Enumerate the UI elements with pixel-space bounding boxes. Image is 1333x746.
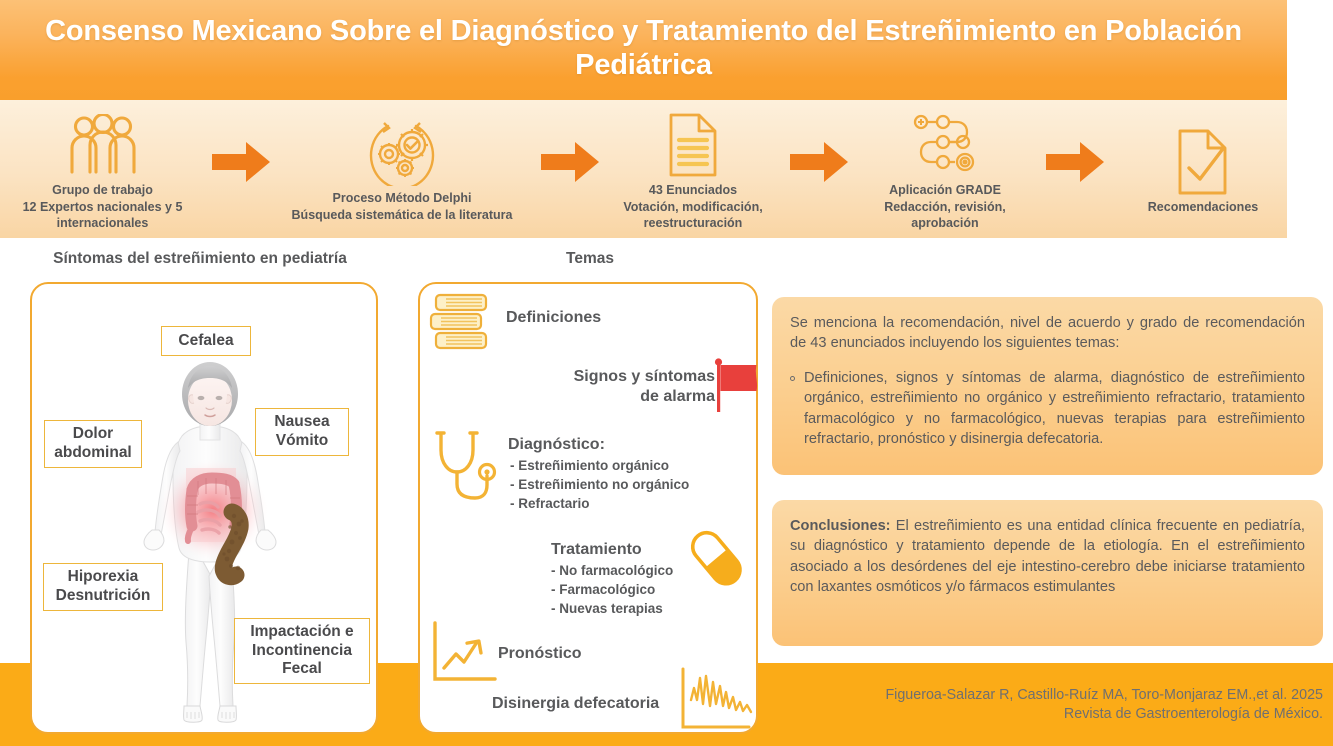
arrow-right-icon-2: [527, 142, 613, 196]
symptom-label-cefalea: Cefalea: [161, 326, 251, 356]
recommendations-intro: Se menciona la recomendación, nivel de a…: [790, 313, 1305, 354]
process-step-3-label: 43 Enunciados Votación, modificación, re…: [623, 182, 762, 232]
tema-tratamiento-sub-2: - Farmacológico: [551, 580, 655, 599]
gears-check-cycle-icon: [364, 120, 440, 186]
recommendations-bullet-text: Definiciones, signos y síntomas de alarm…: [804, 368, 1305, 450]
temas-section-title: Temas: [420, 250, 760, 268]
trend-up-chart-icon: [430, 620, 502, 689]
process-step-4-label: Aplicación GRADE Redacción, revisión, ap…: [884, 182, 1006, 232]
arrow-right-icon-1: [205, 142, 277, 196]
document-lines-icon: [667, 112, 719, 178]
tema-pronostico-label: Pronóstico: [498, 644, 582, 665]
books-stack-icon: [428, 292, 494, 359]
process-step-1: Grupo de trabajo 12 Expertos nacionales …: [0, 106, 205, 232]
group-people-icon: [66, 112, 140, 178]
conclusions-label: Conclusiones:: [790, 518, 891, 534]
recommendations-card: Se menciona la recomendación, nivel de a…: [772, 297, 1323, 475]
symptom-label-dolor-abdominal: Dolor abdominal: [44, 420, 142, 468]
symptoms-section-title: Síntomas del estreñimiento en pediatría: [22, 250, 378, 268]
network-nodes-target-icon: [909, 112, 981, 178]
tema-tratamiento-label: Tratamiento: [551, 540, 642, 561]
tema-disinergia-label: Disinergia defecatoria: [492, 694, 659, 715]
process-step-5: Recomendaciones: [1125, 123, 1281, 216]
stethoscope-icon: [425, 428, 503, 515]
tema-diagnostico-sub-1: - Estreñimiento orgánico: [510, 456, 669, 475]
process-step-2-label: Proceso Método Delphi Búsqueda sistemáti…: [292, 190, 513, 223]
recommendations-bullet-row: Definiciones, signos y síntomas de alarm…: [790, 368, 1305, 450]
infographic-root: Consenso Mexicano Sobre el Diagnóstico y…: [0, 0, 1333, 746]
pill-capsule-icon: [686, 526, 748, 597]
manometry-wave-icon: [678, 666, 754, 737]
arrow-right-icon-3: [773, 142, 865, 196]
tema-alarma-label: Signos y síntomas de alarma: [555, 367, 715, 407]
process-step-2: Proceso Método Delphi Búsqueda sistemáti…: [277, 114, 527, 223]
document-check-icon: [1176, 129, 1230, 195]
arrow-right-icon-4: [1025, 142, 1125, 196]
tema-tratamiento-sub-3: - Nuevas terapias: [551, 599, 663, 618]
tema-diagnostico-sub-2: - Estreñimiento no orgánico: [510, 475, 689, 494]
red-flag-icon: [714, 358, 760, 417]
process-step-4: Aplicación GRADE Redacción, revisión, ap…: [865, 106, 1025, 232]
bullet-circle-icon: [790, 376, 795, 381]
process-flow-band: Grupo de trabajo 12 Expertos nacionales …: [0, 100, 1287, 238]
process-step-5-label: Recomendaciones: [1148, 199, 1258, 216]
header-banner: Consenso Mexicano Sobre el Diagnóstico y…: [0, 0, 1287, 100]
citation: Figueroa-Salazar R, Castillo-Ruíz MA, To…: [772, 686, 1323, 724]
conclusions-paragraph: Conclusiones: El estreñimiento es una en…: [790, 516, 1305, 598]
page-title: Consenso Mexicano Sobre el Diagnóstico y…: [24, 14, 1263, 82]
process-step-1-label: Grupo de trabajo 12 Expertos nacionales …: [23, 182, 183, 232]
tema-tratamiento-sub-1: - No farmacológico: [551, 561, 673, 580]
tema-definiciones-label: Definiciones: [506, 308, 601, 329]
conclusions-card: Conclusiones: El estreñimiento es una en…: [772, 500, 1323, 646]
process-step-3: 43 Enunciados Votación, modificación, re…: [613, 106, 773, 232]
symptom-label-hiporexia: Hiporexia Desnutrición: [43, 563, 163, 611]
tema-diagnostico-label: Diagnóstico:: [508, 435, 605, 456]
tema-diagnostico-sub-3: - Refractario: [510, 494, 590, 513]
symptom-label-impactacion: Impactación e Incontinencia Fecal: [234, 618, 370, 684]
symptom-label-nausea-vomito: Nausea Vómito: [255, 408, 349, 456]
